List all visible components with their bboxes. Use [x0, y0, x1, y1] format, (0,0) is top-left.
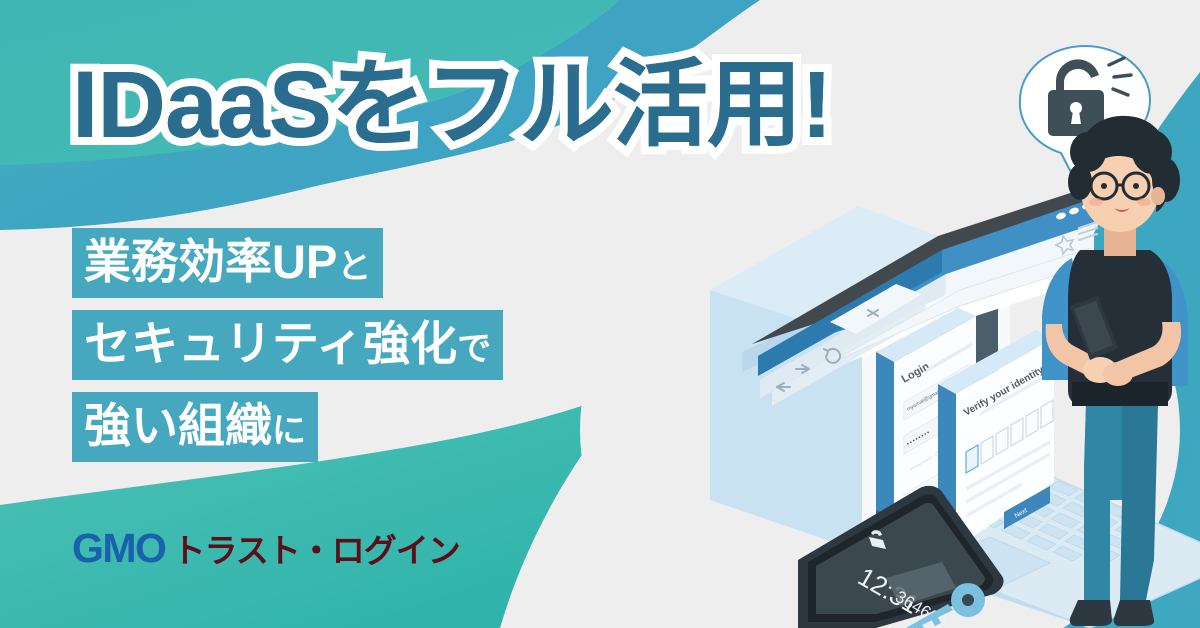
- logo-gmo-text: GMO: [72, 525, 165, 572]
- subheadline-line-3: 強い組織に: [72, 392, 318, 462]
- banner-root: Login myemail@gmail.com •••••••• Continu…: [0, 0, 1200, 628]
- logo-product-text: トラスト・ログイン: [172, 524, 459, 572]
- subheadline-line-1-suffix: と: [337, 248, 371, 286]
- brand-logo: GMO トラスト・ログイン: [72, 524, 460, 572]
- subheadline-line-2: セキュリティ強化で: [72, 310, 503, 380]
- subheadline-line-1-main: 業務効率UP: [84, 235, 337, 288]
- subheadline-line-2-main: セキュリティ強化: [84, 317, 457, 370]
- page-title: IDaaSをフル活用!: [72, 58, 832, 153]
- text-column: IDaaSをフル活用! IDaaSをフル活用! 業務効率UPと セキュリティ強化…: [0, 0, 700, 628]
- subheadline-line-3-suffix: に: [272, 412, 306, 450]
- subheadline-group: 業務効率UPと セキュリティ強化で 強い組織に: [72, 228, 503, 474]
- subheadline-line-1: 業務効率UPと: [72, 228, 383, 298]
- subheadline-line-3-main: 強い組織: [84, 399, 272, 452]
- subheadline-line-2-suffix: で: [457, 330, 491, 368]
